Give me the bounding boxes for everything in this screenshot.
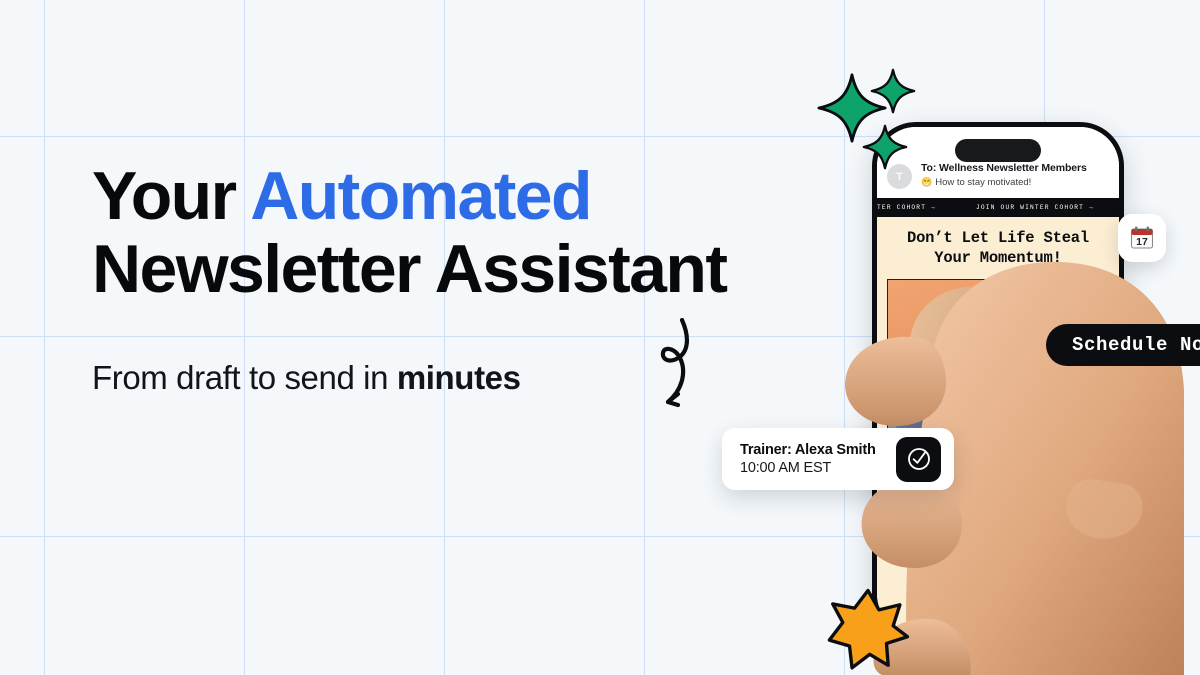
headline-accent-word: Automated — [250, 158, 591, 234]
headline-part-2: Newsletter Assistant — [92, 231, 726, 307]
phone-notch — [955, 139, 1041, 162]
calendar-chip[interactable]: 17 — [1118, 214, 1166, 262]
check-circle-icon — [896, 437, 941, 482]
trainer-time: 10:00 AM EST — [740, 460, 876, 476]
hero-banner: Your Automated Newsletter Assistant From… — [0, 0, 1200, 675]
sparkle-icon — [870, 68, 916, 114]
sparkle-icon — [862, 124, 908, 170]
trainer-name: Trainer: Alexa Smith — [740, 442, 876, 458]
schedule-now-button[interactable]: Schedule Now — [1046, 324, 1200, 366]
page-title: Your Automated Newsletter Assistant — [92, 160, 812, 307]
subtitle-emphasis: minutes — [397, 359, 521, 396]
curved-arrow-icon — [628, 318, 712, 420]
calendar-icon: 17 — [1128, 224, 1156, 252]
trainer-card[interactable]: Trainer: Alexa Smith 10:00 AM EST — [722, 428, 954, 490]
subtitle-plain: From draft to send in — [92, 359, 397, 396]
headline-part-1: Your — [92, 158, 250, 234]
starburst-icon — [826, 588, 910, 672]
calendar-day: 17 — [1136, 236, 1148, 248]
